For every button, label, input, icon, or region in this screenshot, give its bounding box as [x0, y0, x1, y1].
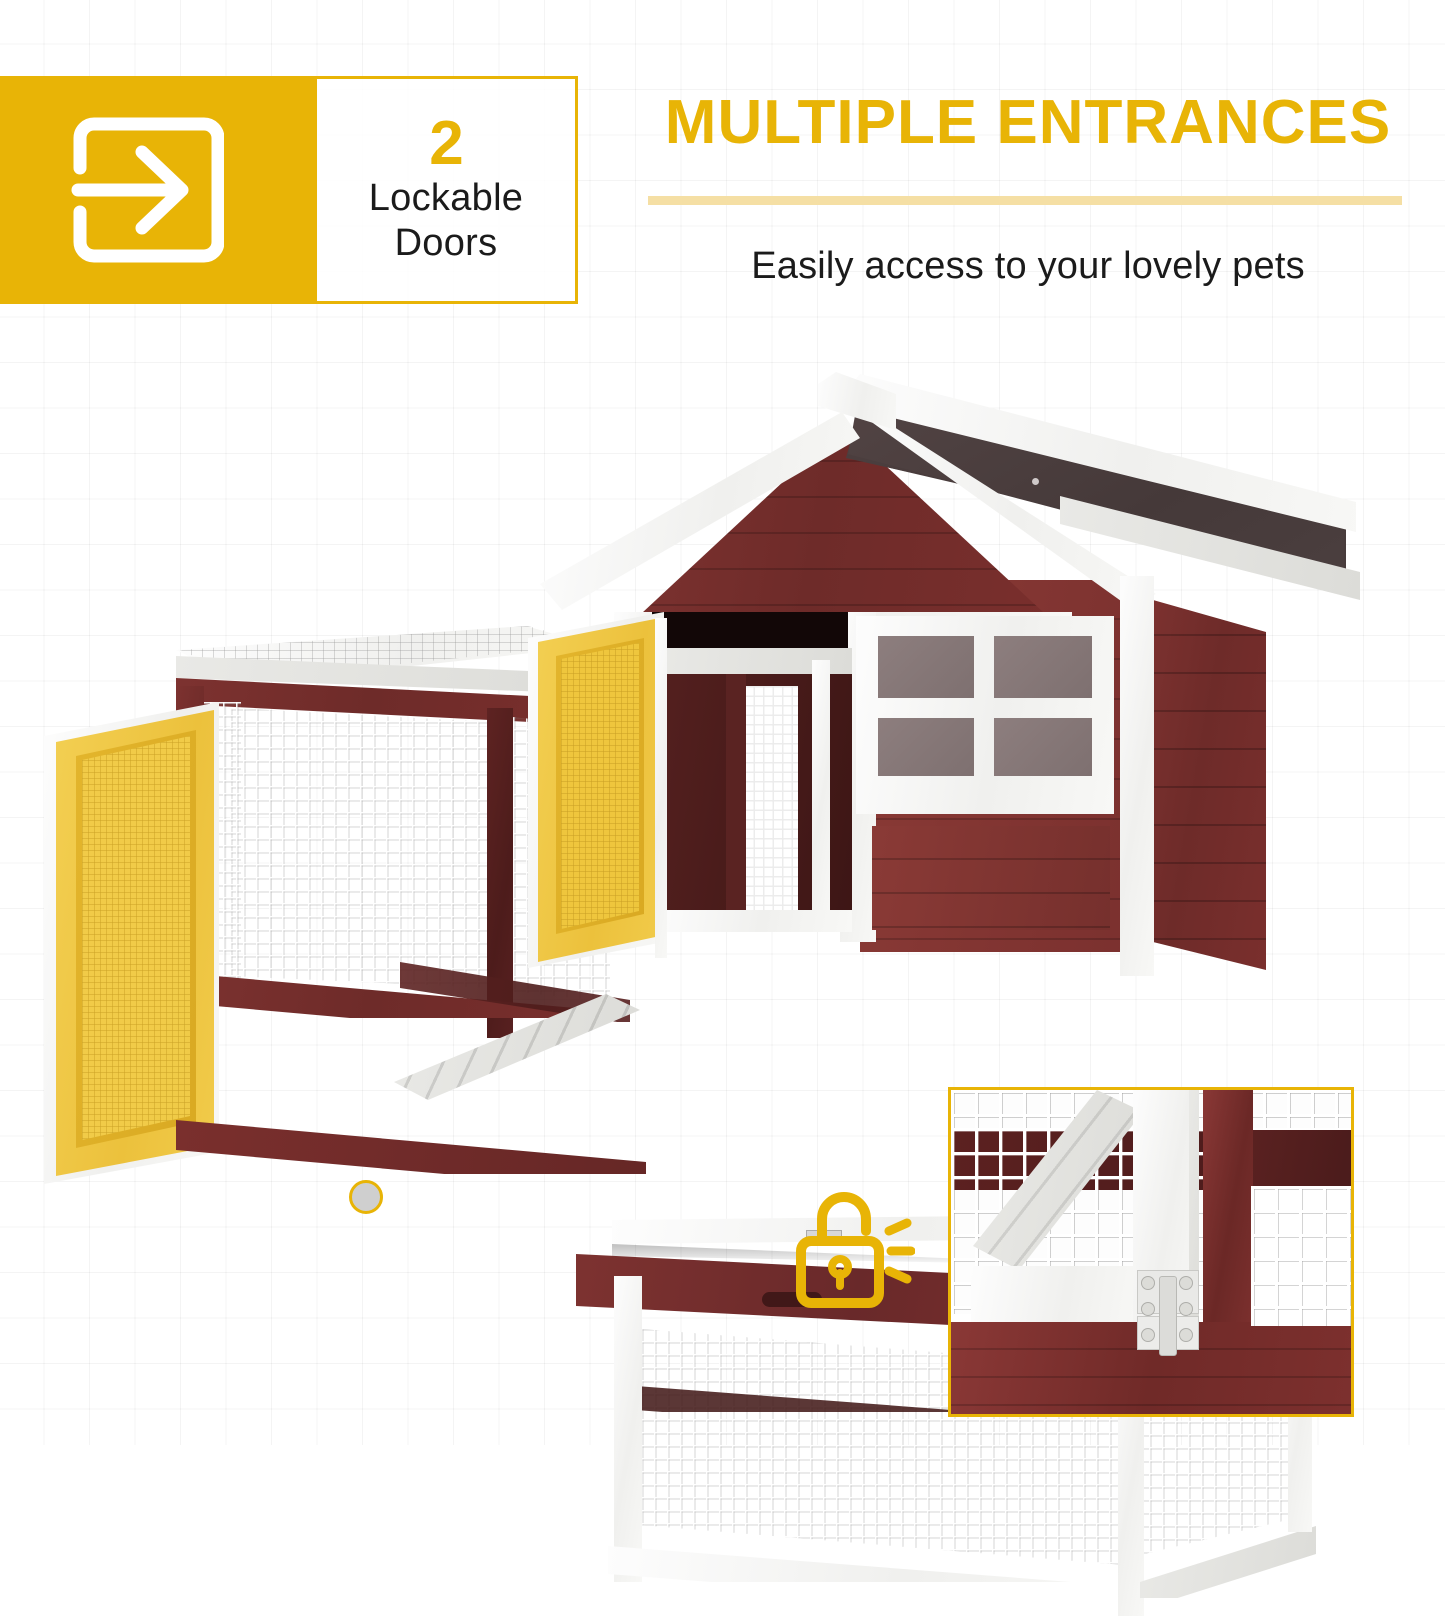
badge-label-box: 2 Lockable Doors	[314, 76, 578, 304]
badge-label-line-2: Doors	[395, 221, 498, 266]
hinge-screw-bottom-left	[1141, 1328, 1155, 1342]
badge-label-line-1: Lockable	[369, 176, 524, 221]
hinge-knuckle	[1159, 1276, 1177, 1356]
inset-right-mesh	[1251, 1186, 1354, 1326]
hinge-closeup-inset	[948, 1087, 1354, 1417]
hinge-screw-mid-left	[1141, 1302, 1155, 1316]
left-door-mesh	[82, 736, 190, 1140]
siding-seams-right	[1146, 598, 1266, 970]
hinge-screw-mid-right	[1179, 1302, 1193, 1316]
hinge-hardware-marker	[349, 1180, 383, 1214]
hinge-screw-top-left	[1141, 1276, 1155, 1290]
feature-badge: 2 Lockable Doors	[0, 76, 578, 304]
badge-count: 2	[429, 115, 462, 172]
interior-floor-edge	[652, 910, 852, 932]
interior-right-post	[812, 660, 830, 920]
badge-color-block	[0, 76, 316, 304]
page-title: MULTIPLE ENTRANCES	[648, 92, 1408, 154]
run-lower-left-post	[614, 1276, 642, 1582]
interior-divider-post	[726, 674, 746, 918]
window-pane-top-right	[994, 636, 1092, 698]
window-pane-bottom-right	[994, 718, 1092, 776]
roof-screw	[1032, 478, 1039, 485]
enter-door-arrow-icon	[64, 112, 224, 268]
front-siding-below-window-seams	[872, 826, 1110, 930]
unlock-padlock-icon	[795, 1185, 915, 1310]
window-pane-bottom-left	[878, 718, 974, 776]
inset-door-bottom-rail	[971, 1266, 1143, 1328]
front-right-post	[1120, 576, 1154, 976]
right-door-hinge-edge	[655, 618, 667, 958]
run-mesh-front-panel	[230, 708, 492, 988]
page-subtitle: Easily access to your lovely pets	[648, 245, 1408, 288]
hinge-screw-bottom-right	[1179, 1328, 1193, 1342]
interior-mesh-panel	[744, 686, 798, 912]
headline-block: MULTIPLE ENTRANCES Easily access to your…	[648, 92, 1408, 288]
hinge-screw-top-right	[1179, 1276, 1193, 1290]
run-front-bottom-beam	[176, 1120, 646, 1174]
header: 2 Lockable Doors MULTIPLE ENTRANCES Easi…	[0, 0, 1445, 330]
right-door-mesh	[561, 643, 639, 929]
headline-divider	[648, 196, 1402, 205]
window-pane-top-left	[878, 636, 974, 698]
inset-wood-post	[1203, 1090, 1253, 1326]
